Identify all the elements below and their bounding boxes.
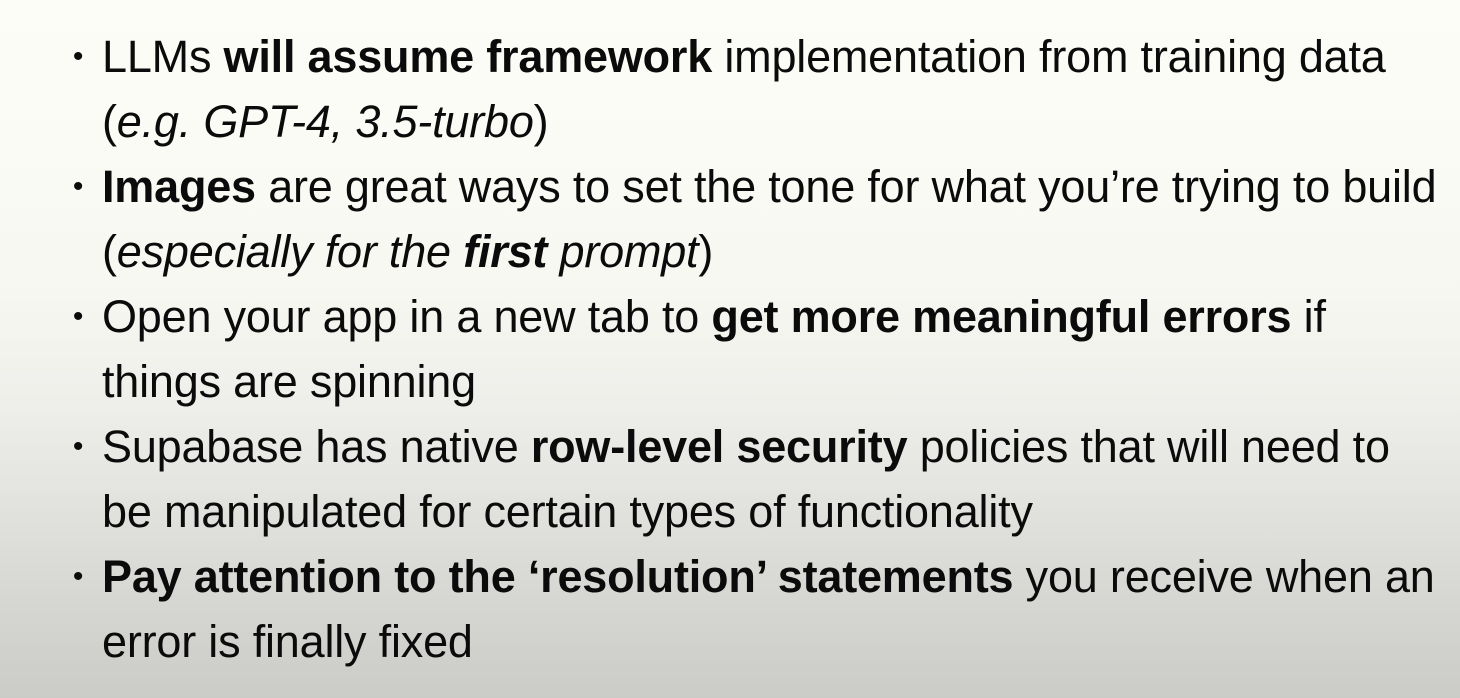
text-run-regular: Supabase has native bbox=[102, 421, 531, 472]
text-run-regular: Open your app in a new tab to bbox=[102, 291, 711, 342]
bullet-point-icon: • bbox=[72, 544, 84, 609]
list-item: • Images are great ways to set the tone … bbox=[60, 154, 1442, 284]
text-run-regular: ) bbox=[534, 96, 549, 147]
text-run-italic: e.g. GPT-4, 3.5-turbo bbox=[117, 96, 534, 147]
bullet-point-icon: • bbox=[72, 154, 84, 219]
list-item: • Supabase has native row-level security… bbox=[60, 414, 1442, 544]
slide-canvas: • LLMs will assume framework implementat… bbox=[0, 0, 1460, 698]
bullet-text: Pay attention to the ‘resolution’ statem… bbox=[102, 544, 1442, 674]
text-run-italic: prompt bbox=[547, 226, 698, 277]
text-run-regular: LLMs bbox=[102, 31, 224, 82]
text-run-regular: ) bbox=[698, 226, 713, 277]
text-run-bold: Pay attention to the ‘resolution’ statem… bbox=[102, 551, 1013, 602]
text-run-bold: row-level security bbox=[531, 421, 908, 472]
bullet-point-icon: • bbox=[72, 284, 84, 349]
bullet-point-icon: • bbox=[72, 414, 84, 479]
bullet-text: Images are great ways to set the tone fo… bbox=[102, 154, 1442, 284]
text-run-bold: will assume framework bbox=[224, 31, 713, 82]
bullet-list: • LLMs will assume framework implementat… bbox=[60, 24, 1442, 674]
text-run-bold: get more meaningful errors bbox=[711, 291, 1291, 342]
bullet-text: LLMs will assume framework implementatio… bbox=[102, 24, 1442, 154]
list-item: • LLMs will assume framework implementat… bbox=[60, 24, 1442, 154]
bullet-point-icon: • bbox=[72, 24, 84, 89]
bullet-text: Supabase has native row-level security p… bbox=[102, 414, 1442, 544]
list-item: • Open your app in a new tab to get more… bbox=[60, 284, 1442, 414]
list-item: • Pay attention to the ‘resolution’ stat… bbox=[60, 544, 1442, 674]
bullet-text: Open your app in a new tab to get more m… bbox=[102, 284, 1442, 414]
text-run-italic: especially for the bbox=[117, 226, 463, 277]
text-run-bold: Images bbox=[102, 161, 256, 212]
text-run-bold-italic: first bbox=[463, 226, 547, 277]
